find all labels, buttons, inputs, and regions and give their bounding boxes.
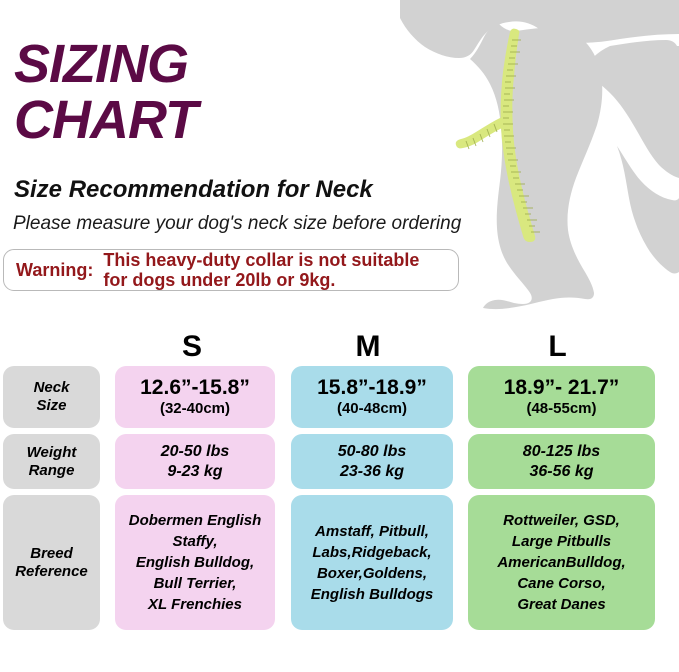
- row-label-neck-size-line-1: Neck: [34, 379, 70, 397]
- breed-reference-medium-line-3: Boxer,Goldens,: [317, 563, 427, 584]
- neck-size-small: 12.6”-15.8” (32-40cm): [115, 366, 275, 428]
- row-label-weight-range-line-2: Range: [29, 462, 75, 480]
- breed-reference-medium-line-2: Labs,Ridgeback,: [312, 542, 431, 563]
- neck-size-large-inches: 18.9”- 21.7”: [504, 376, 620, 400]
- size-header-l: L: [464, 330, 651, 364]
- neck-size-large: 18.9”- 21.7” (48-55cm): [468, 366, 655, 428]
- row-label-breed-reference: Breed Reference: [3, 495, 100, 630]
- breed-reference-medium-line-4: English Bulldogs: [311, 584, 434, 605]
- warning-message: This heavy-duty collar is not suitable f…: [103, 250, 419, 290]
- size-header-m: M: [287, 330, 449, 364]
- row-label-breed-reference-line-2: Reference: [15, 563, 88, 581]
- breed-reference-small-line-1: Dobermen English: [129, 510, 262, 531]
- row-label-breed-reference-line-1: Breed: [30, 545, 73, 563]
- row-label-neck-size: Neck Size: [3, 366, 100, 428]
- warning-box: Warning: This heavy-duty collar is not s…: [3, 249, 459, 291]
- breed-reference-large: Rottweiler, GSD, Large Pitbulls American…: [468, 495, 655, 630]
- breed-reference-large-line-2: Large Pitbulls: [512, 531, 611, 552]
- weight-range-large: 80-125 lbs 36-56 kg: [468, 434, 655, 489]
- weight-range-small: 20-50 lbs 9-23 kg: [115, 434, 275, 489]
- row-label-neck-size-line-2: Size: [36, 397, 66, 415]
- neck-size-large-cm: (48-55cm): [526, 400, 596, 418]
- neck-size-medium-cm: (40-48cm): [337, 400, 407, 418]
- weight-range-large-lbs: 80-125 lbs: [523, 442, 600, 462]
- breed-reference-small-line-5: XL Frenchies: [148, 594, 242, 615]
- breed-reference-large-line-3: AmericanBulldog,: [497, 552, 625, 573]
- breed-reference-small-line-4: Bull Terrier,: [154, 573, 237, 594]
- breed-reference-medium-line-1: Amstaff, Pitbull,: [315, 521, 429, 542]
- size-header-s: S: [112, 330, 272, 364]
- row-label-weight-range-line-1: Weight: [27, 444, 77, 462]
- breed-reference-large-line-4: Cane Corso,: [517, 573, 605, 594]
- weight-range-medium: 50-80 lbs 23-36 kg: [291, 434, 453, 489]
- breed-reference-medium: Amstaff, Pitbull, Labs,Ridgeback, Boxer,…: [291, 495, 453, 630]
- neck-size-medium-inches: 15.8”-18.9”: [317, 376, 427, 400]
- row-label-weight-range: Weight Range: [3, 434, 100, 489]
- weight-range-medium-lbs: 50-80 lbs: [338, 442, 406, 462]
- page-title-line-2: CHART: [14, 92, 197, 148]
- warning-message-line-2: for dogs under 20lb or 9kg.: [103, 270, 419, 290]
- warning-message-line-1: This heavy-duty collar is not suitable: [103, 250, 419, 270]
- weight-range-small-kg: 9-23 kg: [167, 462, 222, 482]
- breed-reference-small-line-2: Staffy,: [172, 531, 217, 552]
- measure-instruction: Please measure your dog's neck size befo…: [13, 213, 461, 235]
- neck-size-small-inches: 12.6”-15.8”: [140, 376, 250, 400]
- sizing-table: S M L Neck Size 12.6”-15.8” (32-40cm) 15…: [0, 330, 679, 636]
- breed-reference-large-line-1: Rottweiler, GSD,: [503, 510, 620, 531]
- table-row-breed-reference: Breed Reference Dobermen English Staffy,…: [0, 495, 679, 630]
- page-title-line-1: SIZING: [14, 36, 197, 92]
- breed-reference-large-line-5: Great Danes: [517, 594, 605, 615]
- weight-range-medium-kg: 23-36 kg: [340, 462, 404, 482]
- neck-size-small-cm: (32-40cm): [160, 400, 230, 418]
- breed-reference-small-line-3: English Bulldog,: [136, 552, 254, 573]
- neck-size-medium: 15.8”-18.9” (40-48cm): [291, 366, 453, 428]
- table-row-weight-range: Weight Range 20-50 lbs 9-23 kg 50-80 lbs…: [0, 434, 679, 489]
- table-row-neck-size: Neck Size 12.6”-15.8” (32-40cm) 15.8”-18…: [0, 366, 679, 428]
- breed-reference-small: Dobermen English Staffy, English Bulldog…: [115, 495, 275, 630]
- page-title: SIZING CHART: [14, 36, 197, 148]
- weight-range-small-lbs: 20-50 lbs: [161, 442, 229, 462]
- size-header-row: S M L: [0, 330, 679, 366]
- weight-range-large-kg: 36-56 kg: [529, 462, 593, 482]
- warning-label: Warning:: [4, 260, 103, 281]
- subtitle: Size Recommendation for Neck: [14, 176, 373, 204]
